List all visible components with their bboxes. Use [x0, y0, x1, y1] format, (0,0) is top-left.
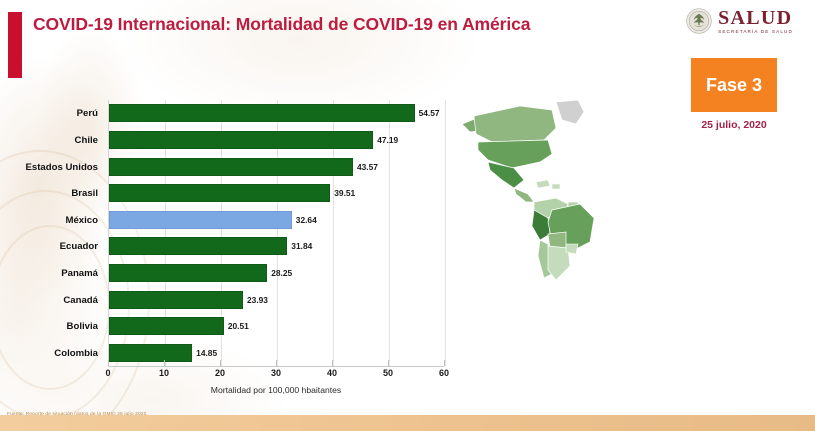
chart-category-label: Canadá [0, 295, 98, 306]
chart-bar-value-label: 43.57 [357, 162, 378, 172]
chart-x-tick-label: 60 [439, 368, 449, 378]
chart-x-tick-mark [388, 360, 389, 366]
phase-date: 25 julio, 2020 [691, 119, 777, 131]
logo-title: SALUD [718, 8, 793, 28]
chart-x-tick-mark [332, 360, 333, 366]
chart-bar [109, 344, 192, 362]
chart-x-tick-mark [220, 360, 221, 366]
chart-bar-value-label: 47.19 [377, 135, 398, 145]
mexico-eagle-emblem-icon [686, 8, 712, 34]
chart-category-label: Bolivia [0, 321, 98, 332]
bottom-decorative-bar [0, 415, 815, 431]
chart-plot-area: 54.5747.1943.5739.5132.6431.8428.2523.93… [108, 100, 444, 366]
chart-category-label: México [0, 215, 98, 226]
chart-x-tick-label: 40 [327, 368, 337, 378]
chart-bar-row: 14.85 [109, 344, 217, 362]
chart-bar-row: 23.93 [109, 291, 268, 309]
chart-bar-value-label: 28.25 [271, 268, 292, 278]
chart-bar [109, 184, 330, 202]
chart-category-label: Estados Unidos [0, 162, 98, 173]
chart-category-label: Brasil [0, 188, 98, 199]
chart-x-tick-mark [276, 360, 277, 366]
chart-bar [109, 264, 267, 282]
title-accent-bar [8, 12, 22, 78]
chart-bar-row: 43.57 [109, 158, 378, 176]
chart-bar-value-label: 39.51 [334, 188, 355, 198]
chart-bar-row: 32.64 [109, 211, 317, 229]
chart-bar-row: 28.25 [109, 264, 292, 282]
chart-x-tick-label: 0 [105, 368, 110, 378]
chart-bar-row: 20.51 [109, 317, 249, 335]
chart-category-label: Panamá [0, 268, 98, 279]
chart-x-axis-title: Mortalidad por 100,000 hbaitantes [108, 385, 444, 395]
chart-bar-value-label: 54.57 [419, 108, 440, 118]
chart-category-label: Perú [0, 108, 98, 119]
chart-x-axis-line [108, 366, 444, 367]
page-title: COVID-19 Internacional: Mortalidad de CO… [33, 13, 553, 35]
chart-bar-value-label: 31.84 [291, 241, 312, 251]
phase-label: Fase 3 [706, 75, 762, 96]
chart-bar-row: 54.57 [109, 104, 440, 122]
chart-gridline [445, 100, 446, 366]
chart-x-tick-label: 10 [159, 368, 169, 378]
mortality-bar-chart: 54.5747.1943.5739.5132.6431.8428.2523.93… [0, 96, 470, 396]
chart-bar [109, 104, 415, 122]
chart-bar [109, 131, 373, 149]
chart-bar-value-label: 23.93 [247, 295, 268, 305]
chart-bar [109, 211, 292, 229]
chart-bar-value-label: 32.64 [296, 215, 317, 225]
chart-x-tick-label: 20 [215, 368, 225, 378]
chart-bar [109, 291, 243, 309]
chart-x-tick-label: 50 [383, 368, 393, 378]
chart-bar-row: 31.84 [109, 237, 312, 255]
chart-x-tick-mark [444, 360, 445, 366]
phase-badge: Fase 3 [691, 58, 777, 112]
chart-x-tick-label: 30 [271, 368, 281, 378]
chart-bars-container: 54.5747.1943.5739.5132.6431.8428.2523.93… [109, 100, 444, 366]
chart-bar-row: 39.51 [109, 184, 355, 202]
chart-x-tick-mark [108, 360, 109, 366]
chart-bar-row: 47.19 [109, 131, 398, 149]
chart-category-label: Colombia [0, 348, 98, 359]
chart-bar [109, 158, 353, 176]
americas-map [452, 98, 624, 288]
logo-subtitle: SECRETARÍA DE SALUD [718, 30, 793, 35]
chart-bar-value-label: 14.85 [196, 348, 217, 358]
chart-category-label: Ecuador [0, 241, 98, 252]
chart-x-tick-mark [164, 360, 165, 366]
americas-choropleth-map-icon [452, 98, 624, 288]
chart-bar-value-label: 20.51 [228, 321, 249, 331]
chart-bar [109, 317, 224, 335]
chart-category-label: Chile [0, 135, 98, 146]
chart-bar [109, 237, 287, 255]
salud-logo: SALUD SECRETARÍA DE SALUD [686, 8, 793, 35]
